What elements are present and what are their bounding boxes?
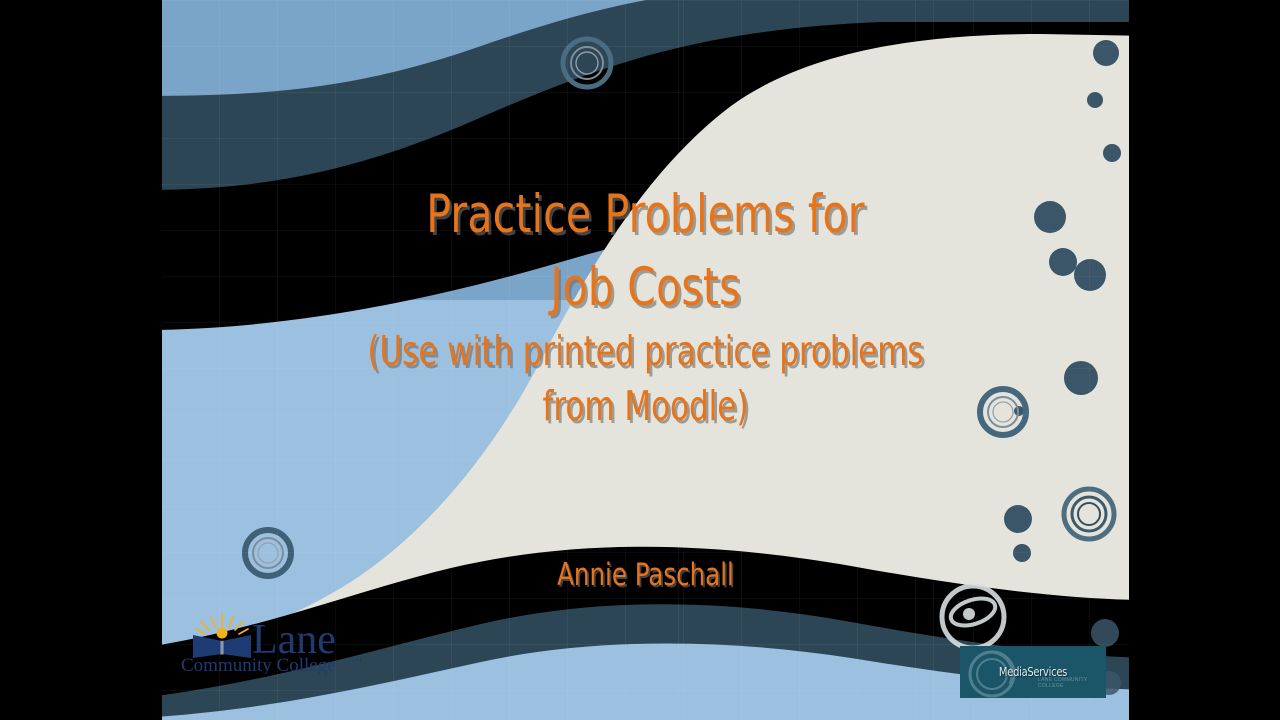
media-services-watermark: MediaServices LANE COMMUNITY COLLEGE [960, 646, 1106, 698]
dot-11 [1091, 619, 1119, 647]
logo-tagline: Community College [181, 655, 336, 674]
dot-5 [1049, 248, 1077, 276]
sun-core [217, 628, 228, 639]
dot-7 [1064, 361, 1098, 395]
letterbox-left [0, 0, 162, 720]
presentation-slide: Practice Problems for Job Costs (Use wit… [161, 0, 1130, 720]
dot-9 [1004, 505, 1032, 533]
dot-4 [1034, 201, 1066, 233]
dot-3 [1103, 144, 1121, 162]
dot-10 [1013, 544, 1031, 562]
slide-viewer: Practice Problems for Job Costs (Use wit… [0, 0, 1280, 720]
book-spine [220, 641, 223, 655]
dot-1 [1093, 40, 1119, 66]
media-services-sublabel: LANE COMMUNITY COLLEGE [1038, 677, 1106, 689]
lane-community-college-logo: Lane Community College ™ [175, 608, 390, 674]
media-services-label: MediaServices [966, 646, 1100, 698]
dot-6 [1074, 259, 1106, 291]
logo-trademark: ™ [352, 657, 362, 668]
letterbox-right [1129, 0, 1280, 720]
dot-2 [1087, 92, 1103, 108]
